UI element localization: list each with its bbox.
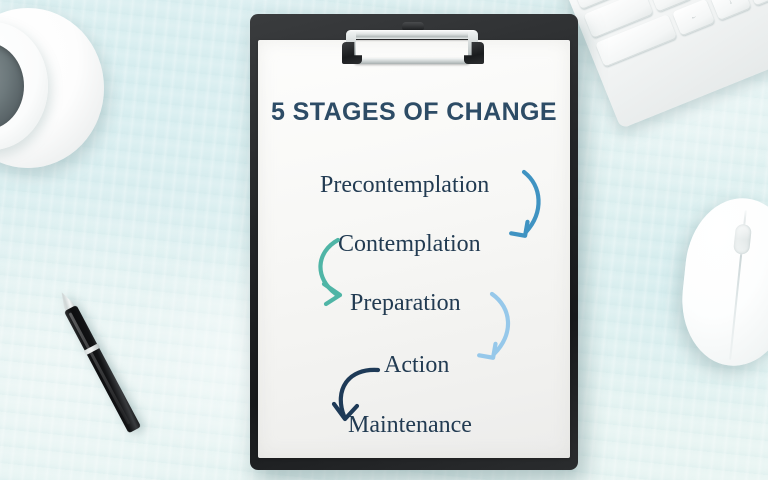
keyboard-key-arrow-left: ← (672, 0, 715, 36)
scene-root: Ctrl Alt ↑ ← ↓ → (0, 0, 768, 480)
clip-bottom-bar (354, 58, 470, 64)
clipboard: 5 STAGES OF CHANGE Precontemplation Cont… (250, 14, 578, 470)
arrow-preparation-to-action-icon (479, 294, 508, 360)
clip-knob (402, 22, 424, 30)
clipboard-paper: 5 STAGES OF CHANGE Precontemplation Cont… (258, 40, 570, 458)
flow-arrows (258, 40, 570, 458)
clip-right-grip (464, 42, 484, 64)
clip-left-grip (342, 42, 362, 64)
keyboard-key-arrow-down: ↓ (711, 0, 752, 21)
arrow-precontemplation-to-contemplation-icon (511, 172, 538, 238)
arrow-contemplation-to-preparation-icon (320, 240, 340, 304)
clip-top-bar (346, 30, 478, 39)
clipboard-clip (336, 22, 488, 70)
arrow-action-to-maintenance-icon (334, 370, 378, 419)
